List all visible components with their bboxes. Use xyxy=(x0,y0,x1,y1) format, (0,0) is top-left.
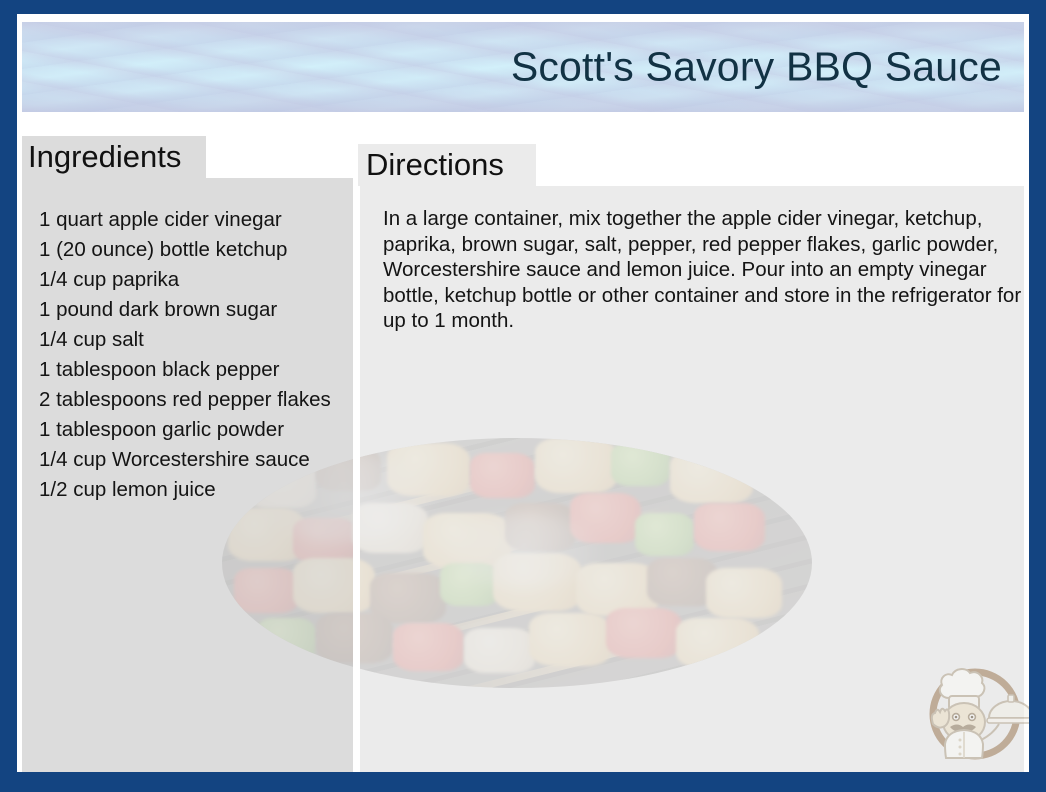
title-banner: Scott's Savory BBQ Sauce xyxy=(22,22,1024,112)
ingredients-list: 1 quart apple cider vinegar 1 (20 ounce)… xyxy=(39,205,359,505)
recipe-slide: Scott's Savory BBQ Sauce xyxy=(0,0,1046,792)
ingredient-item: 1/2 cup lemon juice xyxy=(39,475,359,505)
ingredient-item: 1/4 cup salt xyxy=(39,325,359,355)
ingredient-item: 1 (20 ounce) bottle ketchup xyxy=(39,235,359,265)
chef-with-cloche-logo xyxy=(915,652,1029,772)
ingredients-header-tab: Ingredients xyxy=(22,136,206,178)
ingredient-item: 1 tablespoon garlic powder xyxy=(39,415,359,445)
directions-tab-cover xyxy=(536,144,1024,186)
ingredient-item: 1/4 cup paprika xyxy=(39,265,359,295)
ingredients-heading: Ingredients xyxy=(28,139,181,175)
page-title: Scott's Savory BBQ Sauce xyxy=(511,44,1002,91)
slide-content-area: Scott's Savory BBQ Sauce xyxy=(17,14,1029,772)
chef-logo-icon xyxy=(915,652,1029,772)
ingredient-item: 1 tablespoon black pepper xyxy=(39,355,359,385)
directions-heading: Directions xyxy=(366,147,504,183)
ingredients-tab-cover xyxy=(206,136,358,178)
ingredient-item: 1/4 cup Worcestershire sauce xyxy=(39,445,359,475)
ingredient-item: 1 pound dark brown sugar xyxy=(39,295,359,325)
directions-header-tab: Directions xyxy=(358,144,536,186)
directions-body-text: In a large container, mix together the a… xyxy=(383,206,1028,334)
ingredient-item: 2 tablespoons red pepper flakes xyxy=(39,385,359,415)
ingredient-item: 1 quart apple cider vinegar xyxy=(39,205,359,235)
